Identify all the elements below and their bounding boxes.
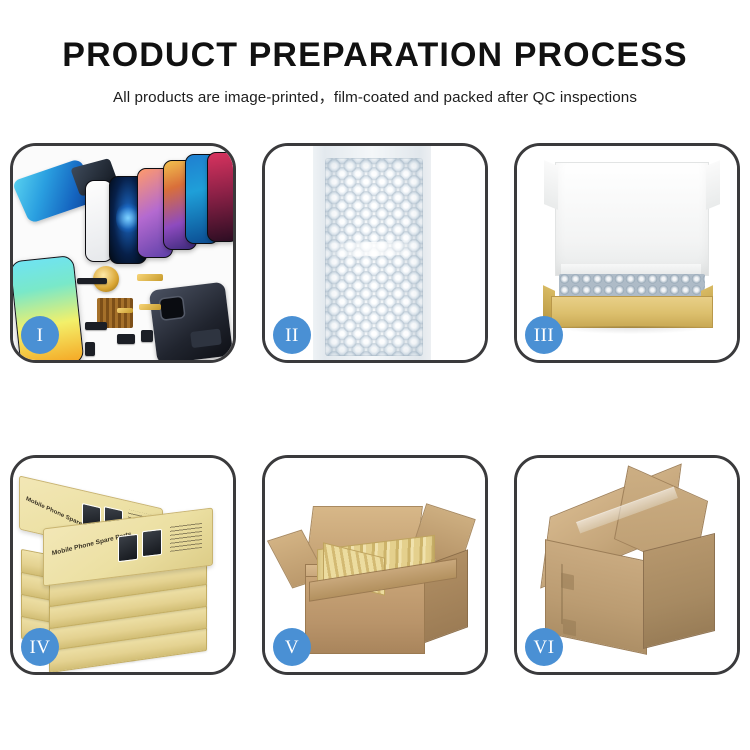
- mailer-box-front-panel: [551, 296, 713, 328]
- step-badge-6: VI: [525, 628, 563, 666]
- process-step-grid: I II III: [10, 143, 740, 676]
- mailer-box-shadow: [553, 326, 709, 334]
- sealed-carton-handle-stub: [561, 573, 574, 591]
- connector-part: [85, 322, 107, 330]
- gold-flex-part: [137, 274, 163, 281]
- page-subtitle: All products are image-printed，film-coat…: [0, 74, 750, 107]
- flex-cable-part: [77, 278, 107, 284]
- ic-chip-part: [141, 330, 153, 342]
- sealed-carton-side-panel: [643, 533, 715, 649]
- step-badge-1: I: [21, 316, 59, 354]
- page-header: PRODUCT PREPARATION PROCESS All products…: [0, 0, 750, 107]
- step-2-image-bubble-wrap: II: [265, 146, 485, 360]
- step-1-image-spare-parts: I: [13, 146, 233, 360]
- sealed-carton-handle-stub: [563, 619, 576, 637]
- mailer-box-lid: [555, 162, 709, 276]
- process-step-card-3[interactable]: III: [514, 143, 740, 363]
- gold-connector-part: [139, 304, 161, 310]
- gold-contact-part: [117, 308, 133, 313]
- process-step-card-1[interactable]: I: [10, 143, 236, 363]
- speaker-part: [85, 342, 95, 356]
- step-6-image-sealed-carton: VI: [517, 458, 737, 672]
- step-5-image-open-carton: V: [265, 458, 485, 672]
- process-step-card-5[interactable]: V: [262, 455, 488, 675]
- phone-back-cover: [149, 282, 233, 360]
- page-title: PRODUCT PREPARATION PROCESS: [0, 0, 750, 74]
- step-4-image-box-stack: Mobile Phone Spare Parts Mobile Phone Sp…: [13, 458, 233, 672]
- step-badge-4: IV: [21, 628, 59, 666]
- process-step-card-4[interactable]: Mobile Phone Spare Parts Mobile Phone Sp…: [10, 455, 236, 675]
- process-step-card-2[interactable]: II: [262, 143, 488, 363]
- camera-module-part: [117, 334, 135, 344]
- phone-screen-red: [207, 152, 233, 242]
- step-badge-2: II: [273, 316, 311, 354]
- process-step-card-6[interactable]: VI: [514, 455, 740, 675]
- step-3-image-mailer-box: III: [517, 146, 737, 360]
- box-label-spec-lines: [170, 522, 202, 552]
- box-label-thumbnail: [142, 529, 162, 557]
- step-badge-3: III: [525, 316, 563, 354]
- box-label-thumbnail: [118, 534, 138, 562]
- step-badge-5: V: [273, 628, 311, 666]
